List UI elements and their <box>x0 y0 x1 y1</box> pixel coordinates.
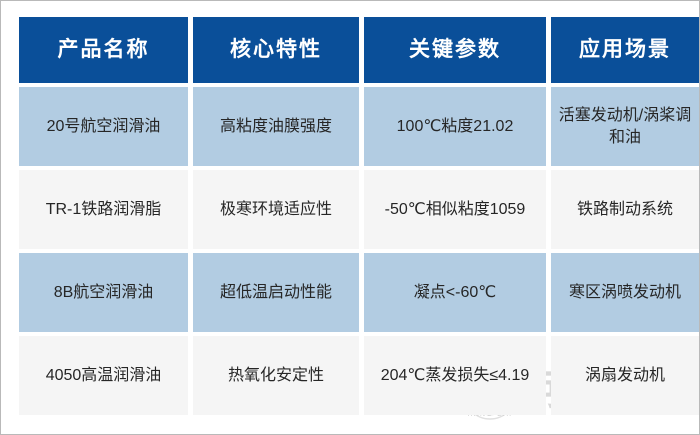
cell-core-feature: 高粘度油膜强度 <box>193 87 359 166</box>
table-body: 20号航空润滑油 高粘度油膜强度 100℃粘度21.02 活塞发动机/涡桨调和油… <box>19 87 699 415</box>
table-row: 20号航空润滑油 高粘度油膜强度 100℃粘度21.02 活塞发动机/涡桨调和油 <box>19 87 699 166</box>
cell-text: 高粘度油膜强度 <box>199 116 353 138</box>
table-row: TR-1铁路润滑脂 极寒环境适应性 -50℃相似粘度1059 铁路制动系统 <box>19 170 699 249</box>
cell-key-parameter: 204℃蒸发损失≤4.19 <box>364 336 546 415</box>
table-header: 产品名称 核心特性 关键参数 应用场景 <box>19 17 699 83</box>
cell-core-feature: 超低温启动性能 <box>193 253 359 332</box>
cell-text: 20号航空润滑油 <box>25 116 182 138</box>
table-row: 8B航空润滑油 超低温启动性能 凝点<-60℃ 寒区涡喷发动机 <box>19 253 699 332</box>
cell-key-parameter: 凝点<-60℃ <box>364 253 546 332</box>
product-spec-table: 产品名称 核心特性 关键参数 应用场景 20号航空润滑油 高粘度油膜强度 100… <box>14 13 700 419</box>
column-header-key-parameter: 关键参数 <box>364 17 546 83</box>
cell-text: 204℃蒸发损失≤4.19 <box>370 365 540 387</box>
cell-core-feature: 热氧化安定性 <box>193 336 359 415</box>
cell-product-name: 20号航空润滑油 <box>19 87 188 166</box>
cell-text: 活塞发动机/涡桨调和油 <box>557 105 693 148</box>
cell-application-scenario: 活塞发动机/涡桨调和油 <box>551 87 699 166</box>
cell-text: -50℃相似粘度1059 <box>370 199 540 221</box>
cell-text: 寒区涡喷发动机 <box>557 282 693 304</box>
cell-text: TR-1铁路润滑脂 <box>25 199 182 221</box>
table-row: 4050高温润滑油 热氧化安定性 204℃蒸发损失≤4.19 涡扇发动机 <box>19 336 699 415</box>
cell-key-parameter: 100℃粘度21.02 <box>364 87 546 166</box>
cell-text: 热氧化安定性 <box>199 365 353 387</box>
table-header-row: 产品名称 核心特性 关键参数 应用场景 <box>19 17 699 83</box>
cell-core-feature: 极寒环境适应性 <box>193 170 359 249</box>
cell-key-parameter: -50℃相似粘度1059 <box>364 170 546 249</box>
column-header-core-feature: 核心特性 <box>193 17 359 83</box>
table-image-canvas: HANG CAI 河南航材 产品名称 核心特性 关键参数 应用场景 20号航空润… <box>0 0 700 435</box>
cell-text: 超低温启动性能 <box>199 282 353 304</box>
cell-text: 100℃粘度21.02 <box>370 116 540 138</box>
column-header-product-name: 产品名称 <box>19 17 188 83</box>
cell-application-scenario: 涡扇发动机 <box>551 336 699 415</box>
cell-application-scenario: 寒区涡喷发动机 <box>551 253 699 332</box>
cell-product-name: 8B航空润滑油 <box>19 253 188 332</box>
cell-text: 铁路制动系统 <box>557 199 693 221</box>
cell-text: 极寒环境适应性 <box>199 199 353 221</box>
cell-application-scenario: 铁路制动系统 <box>551 170 699 249</box>
cell-product-name: 4050高温润滑油 <box>19 336 188 415</box>
cell-product-name: TR-1铁路润滑脂 <box>19 170 188 249</box>
cell-text: 凝点<-60℃ <box>370 282 540 304</box>
cell-text: 涡扇发动机 <box>557 365 693 387</box>
column-header-application-scenario: 应用场景 <box>551 17 699 83</box>
cell-text: 4050高温润滑油 <box>25 365 182 387</box>
cell-text: 8B航空润滑油 <box>25 282 182 304</box>
